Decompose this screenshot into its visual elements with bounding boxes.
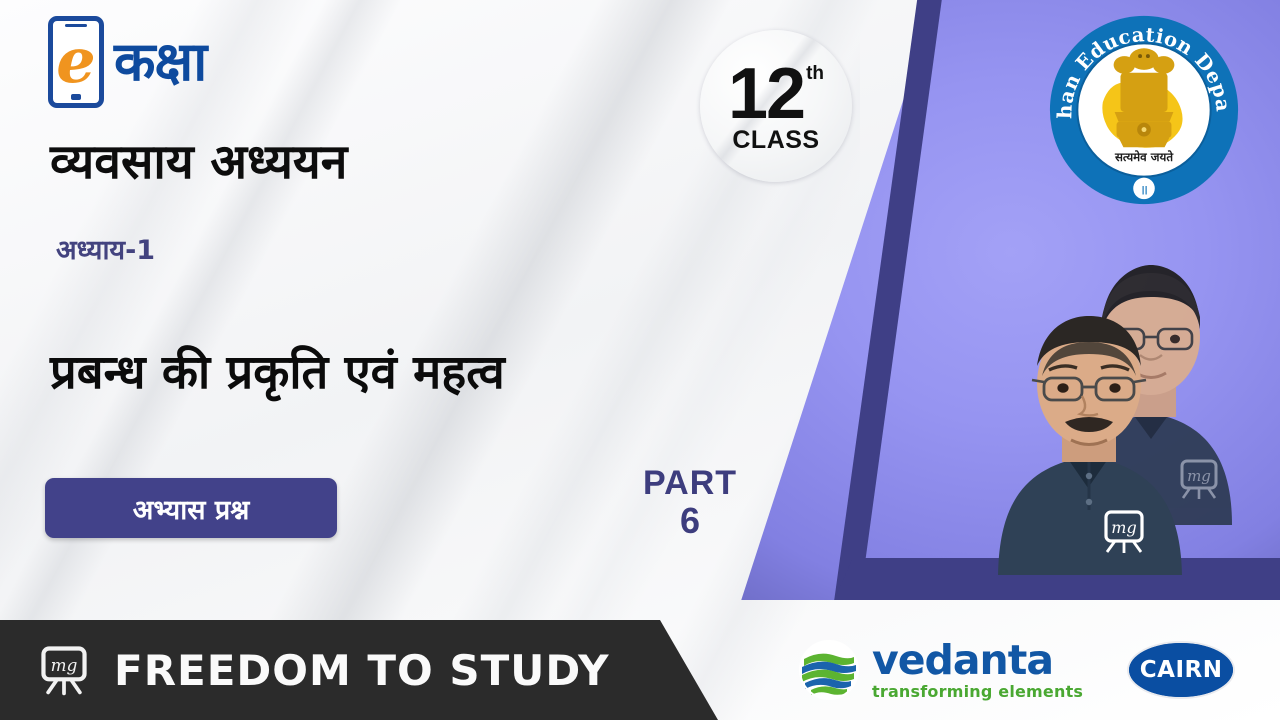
tablet-icon: e <box>48 16 104 108</box>
ekaksha-logo: e कक्षा <box>48 16 206 108</box>
svg-text:mg: mg <box>1111 518 1136 537</box>
sponsor-logos: vedanta transforming elements CAIRN <box>770 620 1280 720</box>
emblem-bottom-glyph: ॥ <box>1140 182 1148 198</box>
class-number: 12 <box>728 58 804 130</box>
practice-questions-label: अभ्यास प्रश्न <box>133 490 250 527</box>
instructor-front: mg <box>970 280 1210 575</box>
ashoka-lion-capital <box>1114 48 1175 147</box>
mg-easel-icon: mg <box>36 642 92 698</box>
class-badge: 12 th CLASS <box>700 30 852 182</box>
mg-easel-logo: mg <box>36 642 92 698</box>
subject-title: व्यवसाय अध्ययन <box>50 128 347 193</box>
vedanta-logo: vedanta transforming elements <box>798 639 1083 701</box>
class-number-row: 12 th <box>728 58 824 130</box>
class-label: CLASS <box>732 126 819 155</box>
vedanta-tagline: transforming elements <box>872 684 1083 700</box>
topic-title: प्रबन्ध की प्रकृति एवं महत्व <box>50 338 505 402</box>
rajasthan-education-department-emblem: Rajasthan Education Department सत्यमेव ज… <box>1046 12 1242 208</box>
part-number: 6 <box>600 502 780 540</box>
practice-questions-button[interactable]: अभ्यास प्रश्न <box>45 478 337 538</box>
cairn-name: CAIRN <box>1140 657 1223 683</box>
part-label: PART <box>600 466 780 502</box>
cairn-logo: CAIRN <box>1129 643 1233 697</box>
instructors-photo-group: mg <box>930 225 1270 575</box>
logo-letter-e: e <box>56 30 95 92</box>
chapter-label: अध्याय-1 <box>56 230 155 267</box>
emblem-motto: सत्यमेव जयते <box>1114 150 1174 164</box>
footer-content: mg FREEDOM TO STUDY <box>0 642 610 698</box>
footer-tagline: FREEDOM TO STUDY <box>114 646 610 695</box>
vedanta-name: vedanta <box>872 640 1083 681</box>
part-indicator: PART 6 <box>600 466 780 539</box>
vedanta-globe-icon <box>798 639 860 701</box>
logo-wordmark: कक्षा <box>114 35 206 89</box>
footer-bar: mg FREEDOM TO STUDY <box>0 620 720 720</box>
vedanta-text-block: vedanta transforming elements <box>872 640 1083 700</box>
class-number-suffix: th <box>806 64 824 83</box>
svg-text:mg: mg <box>51 655 78 675</box>
thumbnail-canvas: mg <box>0 0 1280 720</box>
emblem-svg: Rajasthan Education Department सत्यमेव ज… <box>1046 12 1242 208</box>
